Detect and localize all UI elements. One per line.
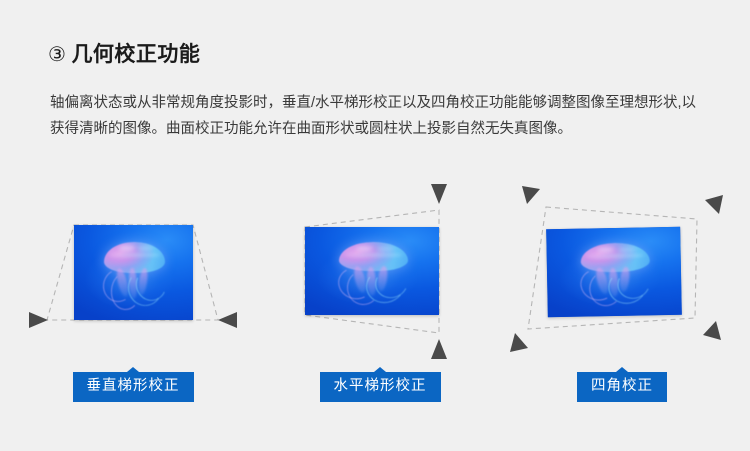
panel-four-corner: 四角校正 [497, 168, 747, 408]
arrow-bottom-right-icon [431, 339, 447, 359]
jellyfish-bell [104, 242, 165, 273]
jellyfish-graphic [100, 240, 169, 308]
arrow-top-right-icon [705, 195, 723, 214]
caption-badge-four-corner[interactable]: 四角校正 [577, 372, 667, 402]
bell-rim [586, 254, 643, 259]
section-description: 轴偏离状态或从非常规角度投影时，垂直/水平梯形校正以及四角校正功能能够调整图像至… [50, 90, 710, 142]
panel-horizontal-keystone: 水平梯形校正 [255, 168, 505, 408]
jellyfish-graphic [576, 241, 655, 306]
jellyfish-graphic [334, 241, 412, 304]
caption-badge-horizontal[interactable]: 水平梯形校正 [320, 372, 441, 402]
illustration-panels: 垂直梯形校正 [0, 168, 750, 408]
projected-image-horizontal [305, 227, 439, 315]
bell-rim [345, 253, 402, 256]
caption-wrap-four-corner: 四角校正 [497, 372, 747, 402]
bell-highlight-right [377, 247, 393, 251]
bell-highlight-right [138, 246, 153, 251]
bell-rim [109, 253, 160, 257]
page-root: ③几何校正功能 轴偏离状态或从非常规角度投影时，垂直/水平梯形校正以及四角校正功… [0, 0, 750, 451]
bell-highlight-left [597, 247, 615, 252]
projected-image-vertical [74, 225, 193, 320]
arrow-bottom-right-icon [703, 321, 721, 340]
section-description-text: 轴偏离状态或从非常规角度投影时，垂直/水平梯形校正以及四角校正功能能够调整图像至… [50, 90, 710, 142]
section-title: 几何校正功能 [71, 43, 200, 66]
panel-vertical-keystone: 垂直梯形校正 [8, 168, 258, 408]
arrow-bottom-left-icon [29, 312, 48, 328]
bell-highlight-right [619, 247, 635, 252]
caption-badge-vertical[interactable]: 垂直梯形校正 [73, 372, 194, 402]
caption-wrap-vertical: 垂直梯形校正 [8, 372, 258, 402]
page-title: ③几何校正功能 [48, 41, 200, 68]
bell-highlight-left [119, 245, 135, 250]
bell-highlight-left [356, 246, 374, 251]
arrow-bottom-left-icon [510, 333, 528, 352]
arrow-top-right-icon [431, 184, 447, 204]
projected-image-four-corner [546, 227, 682, 318]
arrow-top-left-icon [522, 186, 540, 204]
arrow-bottom-right-icon [218, 312, 237, 328]
caption-wrap-horizontal: 水平梯形校正 [255, 372, 505, 402]
section-number: ③ [48, 44, 66, 66]
